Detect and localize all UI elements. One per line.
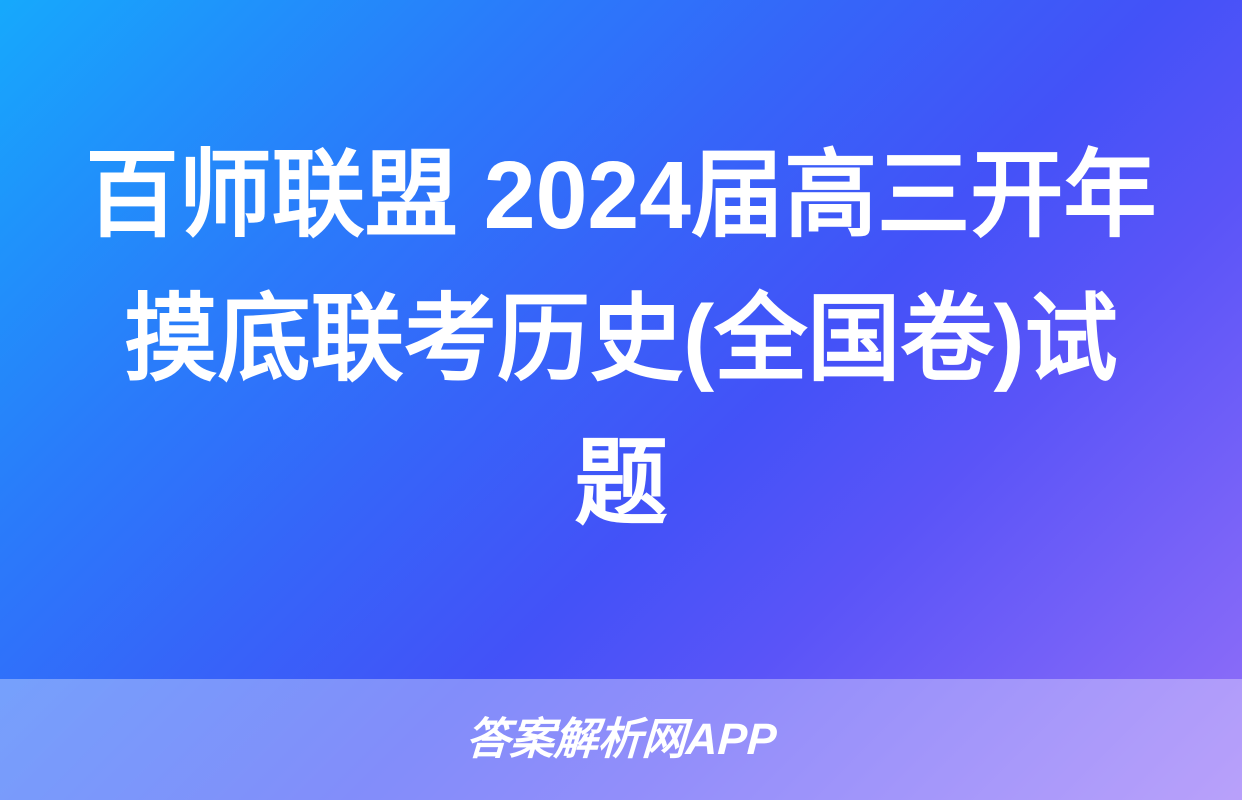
page-title: 百师联盟 2024届高三开年摸底联考历史(全国卷)试题	[85, 124, 1158, 556]
footer-watermark-band: 答案解析网APP	[0, 679, 1242, 800]
app-watermark-label: 答案解析网APP	[465, 718, 778, 762]
title-block: 百师联盟 2024届高三开年摸底联考历史(全国卷)试题	[0, 0, 1242, 679]
cover-card: 百师联盟 2024届高三开年摸底联考历史(全国卷)试题 答案解析网APP	[0, 0, 1242, 800]
